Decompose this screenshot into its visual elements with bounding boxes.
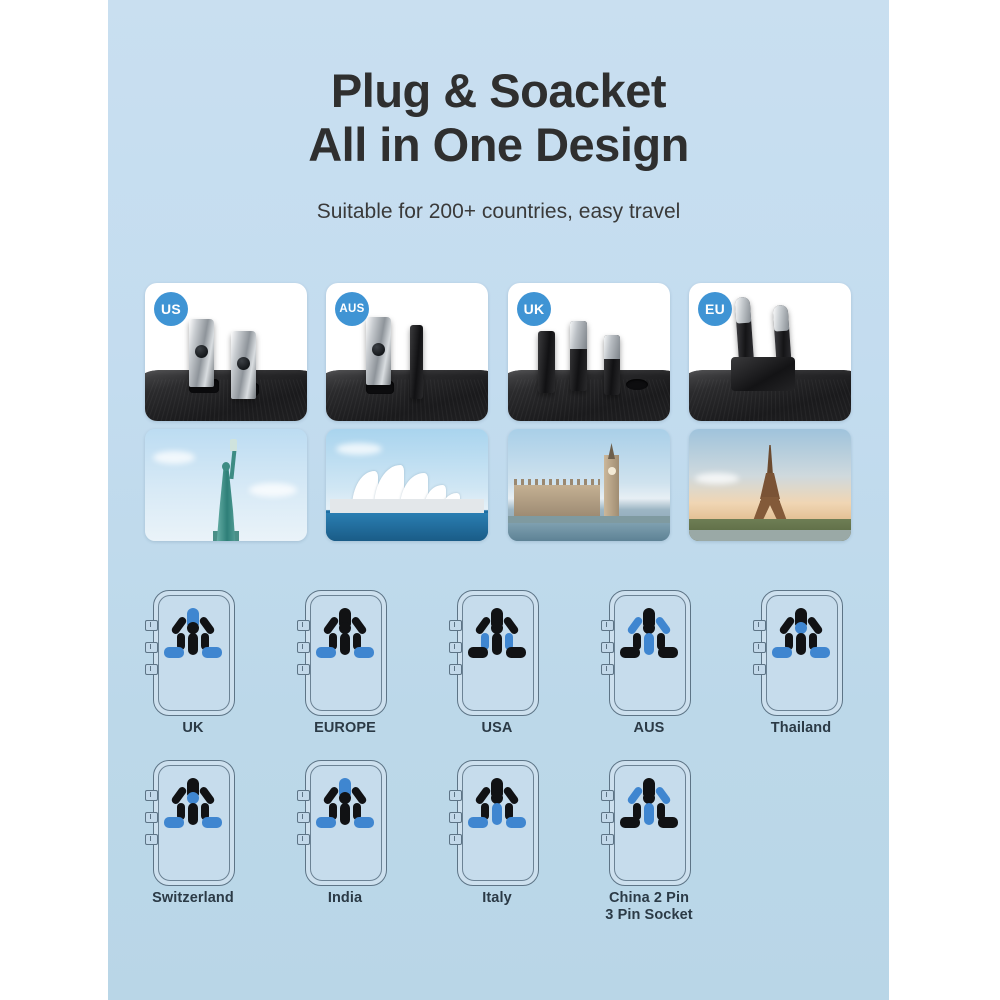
slot-hR	[658, 817, 678, 828]
hinge-tab-icon	[601, 642, 614, 653]
slot-armR-active	[654, 785, 672, 805]
hinge-tab-icon	[753, 664, 766, 675]
socket-slot-glyph	[468, 608, 526, 664]
landmark-photo-us	[145, 429, 307, 541]
hinge-tab-icon	[145, 834, 158, 845]
socket-label: Switzerland	[145, 890, 241, 907]
hinge-tab-icon	[601, 812, 614, 823]
socket-outline	[149, 760, 237, 884]
socket-diagram-china-2-pin[interactable]: China 2 Pin3 Pin Socket	[601, 760, 697, 924]
slot-armR	[198, 785, 216, 805]
slot-vC	[188, 803, 198, 825]
hinge-tab-icon	[145, 642, 158, 653]
socket-outline	[605, 590, 693, 714]
slot-vC-active	[644, 633, 654, 655]
hinge-tab-icon	[145, 790, 158, 801]
slot-hR-active	[202, 817, 222, 828]
slot-vC	[492, 633, 502, 655]
slot-hR	[658, 647, 678, 658]
slot-hL	[620, 647, 640, 658]
slot-armR-active	[654, 615, 672, 635]
hinge-tab-icon	[449, 620, 462, 631]
socket-slot-glyph	[316, 778, 374, 834]
socket-label: AUS	[601, 720, 697, 737]
page-title: Plug & Soacket All in One Design	[108, 64, 889, 172]
plug-card-us[interactable]: US	[145, 283, 307, 541]
socket-label: Thailand	[753, 720, 849, 737]
plug-card-aus[interactable]: AUS	[326, 283, 488, 541]
hinge-tab-icon	[601, 790, 614, 801]
socket-label: China 2 Pin3 Pin Socket	[601, 890, 697, 924]
hinge-tab-icon	[145, 664, 158, 675]
slot-hL-active	[316, 647, 336, 658]
headline-line-1: Plug & Soacket	[108, 64, 889, 118]
hinge-tab-icon	[601, 834, 614, 845]
slot-hR-active	[354, 817, 374, 828]
socket-outline	[605, 760, 693, 884]
hinge-tab-icon	[449, 664, 462, 675]
slot-armR	[350, 785, 368, 805]
hinge-tab-icon	[449, 642, 462, 653]
hinge-tab-icon	[753, 620, 766, 631]
plug-photo-eu: EU	[689, 283, 851, 421]
socket-label: Italy	[449, 890, 545, 907]
plug-photo-uk: UK	[508, 283, 670, 421]
badge-uk: UK	[517, 292, 551, 326]
slot-armR	[502, 615, 520, 635]
socket-label: USA	[449, 720, 545, 737]
badge-eu: EU	[698, 292, 732, 326]
slot-hL-active	[316, 817, 336, 828]
plug-card-uk[interactable]: UK	[508, 283, 670, 541]
slot-hL-active	[164, 647, 184, 658]
hinge-tab-icon	[297, 664, 310, 675]
socket-slot-glyph	[620, 608, 678, 664]
slot-vC	[796, 633, 806, 655]
hinge-tab-icon	[753, 642, 766, 653]
hinge-tab-icon	[297, 790, 310, 801]
hinge-tab-icon	[145, 620, 158, 631]
slot-armR	[502, 785, 520, 805]
hinge-tab-icon	[601, 664, 614, 675]
socket-outline	[757, 590, 845, 714]
socket-diagram-thailand[interactable]: Thailand	[753, 590, 849, 737]
slot-armR	[806, 615, 824, 635]
hinge-tab-icon	[449, 812, 462, 823]
socket-outline	[453, 760, 541, 884]
slot-vC	[340, 803, 350, 825]
slot-vC	[340, 633, 350, 655]
landmark-photo-uk	[508, 429, 670, 541]
slot-hR-active	[202, 647, 222, 658]
socket-diagram-italy[interactable]: Italy	[449, 760, 545, 907]
socket-label: EUROPE	[297, 720, 393, 737]
plug-photo-aus: AUS	[326, 283, 488, 421]
socket-diagram-usa[interactable]: USA	[449, 590, 545, 737]
landmark-photo-eu	[689, 429, 851, 541]
slot-vC-active	[492, 803, 502, 825]
socket-diagram-india[interactable]: India	[297, 760, 393, 907]
hinge-tab-icon	[449, 834, 462, 845]
socket-diagram-aus[interactable]: AUS	[601, 590, 697, 737]
hinge-tab-icon	[449, 790, 462, 801]
plug-photo-us: US	[145, 283, 307, 421]
slot-armR	[198, 615, 216, 635]
slot-armR	[350, 615, 368, 635]
slot-hR-active	[506, 817, 526, 828]
hinge-tab-icon	[297, 834, 310, 845]
slot-hR	[506, 647, 526, 658]
slot-hR-active	[354, 647, 374, 658]
slot-hL-active	[772, 647, 792, 658]
hinge-tab-icon	[297, 620, 310, 631]
hinge-tab-icon	[601, 620, 614, 631]
slot-vC-active	[644, 803, 654, 825]
hinge-tab-icon	[145, 812, 158, 823]
socket-outline	[149, 590, 237, 714]
slot-hL	[620, 817, 640, 828]
socket-diagram-uk[interactable]: UK	[145, 590, 241, 737]
hinge-tab-icon	[297, 812, 310, 823]
socket-label: UK	[145, 720, 241, 737]
socket-slot-glyph	[164, 778, 222, 834]
badge-us: US	[154, 292, 188, 326]
socket-slot-glyph	[316, 608, 374, 664]
headline-line-2: All in One Design	[108, 118, 889, 172]
headline-subtitle: Suitable for 200+ countries, easy travel	[108, 200, 889, 224]
socket-outline	[301, 590, 389, 714]
socket-slot-glyph	[620, 778, 678, 834]
slot-hR-active	[810, 647, 830, 658]
badge-aus: AUS	[335, 292, 369, 326]
socket-diagram-switzerland[interactable]: Switzerland	[145, 760, 241, 907]
slot-hL-active	[468, 817, 488, 828]
socket-slot-glyph	[164, 608, 222, 664]
socket-outline	[453, 590, 541, 714]
slot-vC	[188, 633, 198, 655]
plug-card-eu[interactable]: EU	[689, 283, 851, 541]
socket-label: India	[297, 890, 393, 907]
socket-outline	[301, 760, 389, 884]
slot-hL	[468, 647, 488, 658]
infographic-page: Plug & Soacket All in One Design Suitabl…	[0, 0, 1000, 1000]
hinge-tab-icon	[297, 642, 310, 653]
slot-hL-active	[164, 817, 184, 828]
socket-slot-glyph	[772, 608, 830, 664]
landmark-photo-aus	[326, 429, 488, 541]
socket-slot-glyph	[468, 778, 526, 834]
socket-diagram-europe[interactable]: EUROPE	[297, 590, 393, 737]
